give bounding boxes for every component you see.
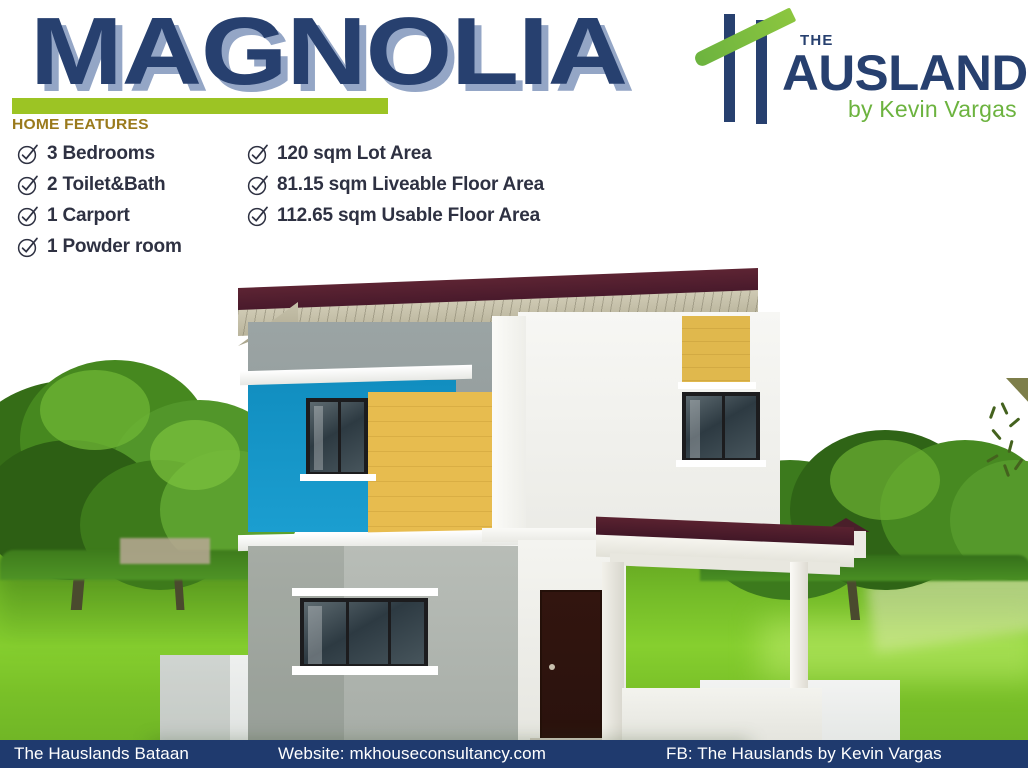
footer-website[interactable]: Website: mkhouseconsultancy.com xyxy=(278,744,546,764)
feature-label: 1 Carport xyxy=(47,205,130,227)
feature-item: 112.65 sqm Usable Floor Area xyxy=(246,202,544,229)
logo-name-text: AUSLANDS xyxy=(782,44,1028,102)
feature-item: 81.15 sqm Liveable Floor Area xyxy=(246,171,544,198)
entry-door xyxy=(540,590,602,740)
yellow-siding-panel xyxy=(368,392,492,542)
feature-label: 3 Bedrooms xyxy=(47,143,155,165)
logo-byline-text: by Kevin Vargas xyxy=(848,96,1017,123)
house-structure xyxy=(230,270,870,750)
distant-building xyxy=(120,538,210,564)
feature-label: 112.65 sqm Usable Floor Area xyxy=(277,205,540,227)
header: MAGNOLIA HOME FEATURES THE AUSLANDS by K… xyxy=(0,0,1028,148)
upper-right-window-sill xyxy=(676,460,766,467)
check-circle-icon xyxy=(16,142,40,166)
foliage-sprig xyxy=(985,402,1028,492)
check-circle-icon xyxy=(16,204,40,228)
feature-item: 1 Powder room xyxy=(16,233,182,260)
brand-logo: THE AUSLANDS by Kevin Vargas xyxy=(700,10,1020,122)
check-circle-icon xyxy=(16,173,40,197)
footer-facebook[interactable]: FB: The Hauslands by Kevin Vargas xyxy=(666,744,942,764)
ground-floor-window xyxy=(300,598,428,668)
ground-window-head xyxy=(292,588,438,596)
feature-item: 2 Toilet&Bath xyxy=(16,171,182,198)
feature-item: 120 sqm Lot Area xyxy=(246,140,544,167)
check-circle-icon xyxy=(246,173,270,197)
check-circle-icon xyxy=(246,142,270,166)
footer-location: The Hauslands Bataan xyxy=(14,744,189,764)
section-label-home-features: HOME FEATURES xyxy=(12,116,149,133)
upper-left-window xyxy=(306,398,368,476)
upper-right-sill-top xyxy=(678,382,756,389)
logo-swoosh-icon xyxy=(693,7,797,68)
feature-label: 120 sqm Lot Area xyxy=(277,143,432,165)
features-right-column: 120 sqm Lot Area 81.15 sqm Liveable Floo… xyxy=(246,140,544,233)
check-circle-icon xyxy=(16,235,40,259)
feature-label: 1 Powder room xyxy=(47,236,182,258)
marketing-flyer: MAGNOLIA HOME FEATURES THE AUSLANDS by K… xyxy=(0,0,1028,768)
feature-label: 81.15 sqm Liveable Floor Area xyxy=(277,174,544,196)
green-accent-bar xyxy=(12,98,388,114)
feature-label: 2 Toilet&Bath xyxy=(47,174,165,196)
carport-column-inner xyxy=(602,562,624,750)
footer-bar: The Hauslands Bataan Website: mkhousecon… xyxy=(0,740,1028,768)
door-knob-icon xyxy=(549,664,555,670)
features-left-column: 3 Bedrooms 2 Toilet&Bath xyxy=(16,140,182,264)
upper-right-window xyxy=(682,392,760,462)
feature-item: 3 Bedrooms xyxy=(16,140,182,167)
upper-left-window-sill xyxy=(300,474,376,481)
check-circle-icon xyxy=(246,204,270,228)
upper-wall-band xyxy=(492,316,526,538)
ground-window-sill xyxy=(292,666,438,675)
feature-item: 1 Carport xyxy=(16,202,182,229)
features-section: 3 Bedrooms 2 Toilet&Bath xyxy=(0,140,1028,252)
page-title: MAGNOLIA xyxy=(30,4,627,100)
yellow-siding-panel-right xyxy=(682,316,750,384)
